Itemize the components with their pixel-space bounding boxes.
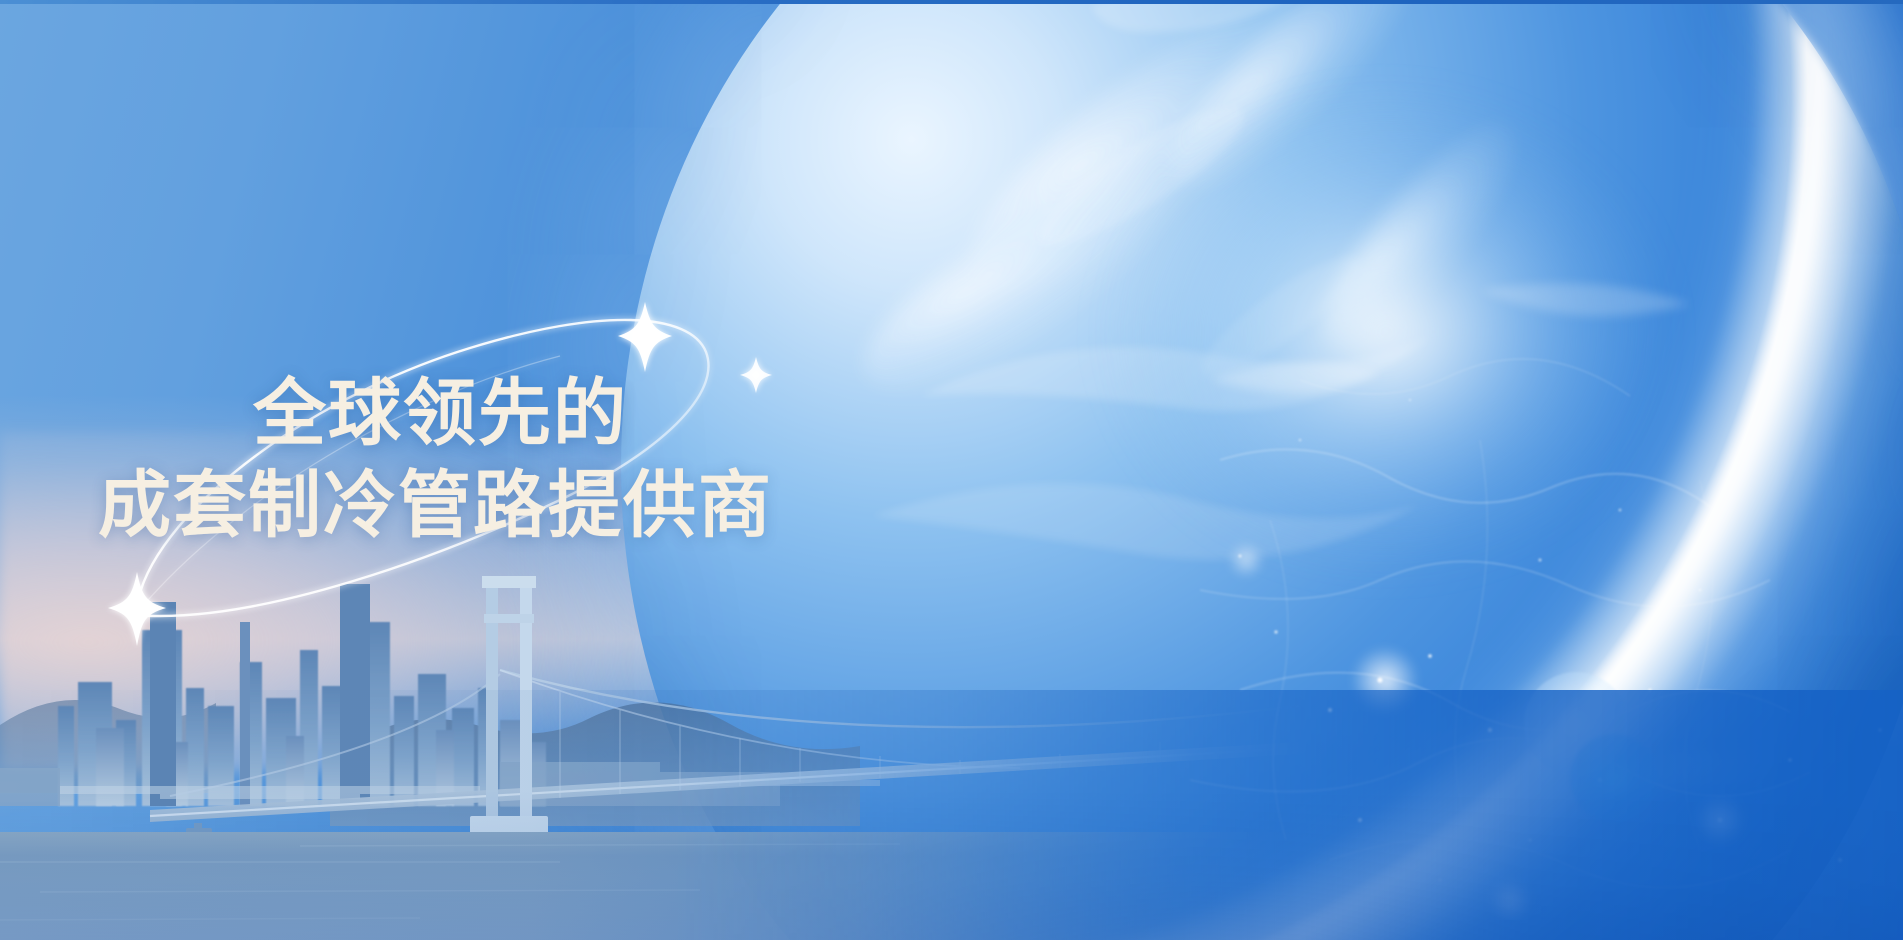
hero-banner: 全球领先的 成套制冷管路提供商 [0, 0, 1903, 940]
city-skyline-photo [0, 510, 1300, 940]
headline-line-1: 全球领先的 [98, 368, 773, 460]
headline-line-2: 成套制冷管路提供商 [98, 460, 773, 552]
page-title: 全球领先的 成套制冷管路提供商 [98, 368, 773, 552]
top-accent-band [0, 0, 1903, 4]
